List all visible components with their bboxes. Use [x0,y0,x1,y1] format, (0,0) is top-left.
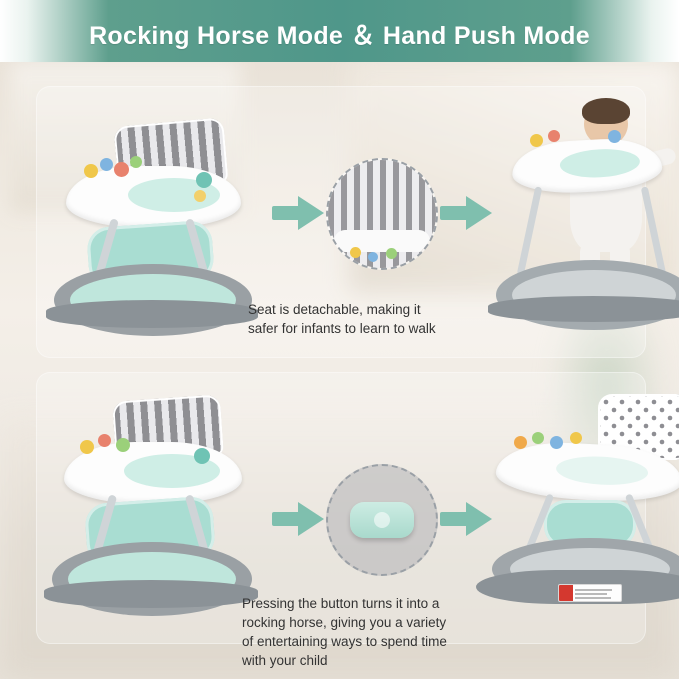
caption-bottom: Pressing the button turns it into a rock… [242,594,498,670]
baby-hair [582,98,630,124]
warning-sticker [558,584,622,602]
header-banner: Rocking Horse Mode ＆ Hand Push Mode [0,0,679,68]
mode-button-closeup [326,464,438,576]
fabric-edge [334,230,430,252]
toy2-blue-icon [608,130,621,143]
tray-inner-4 [555,454,648,487]
closeup-toy-yellow-icon [350,247,361,258]
caption-top: Seat is detachable, making it safer for … [248,300,488,338]
toy3-teal-icon [194,448,210,464]
photo-stage: Seat is detachable, making it safer for … [0,62,679,679]
mode-button[interactable] [350,502,414,538]
walker-hand-push-mode [488,100,679,350]
toy-green-icon [130,156,142,168]
frame-bar-2-left [517,186,543,275]
walker-walking-mode [44,392,259,622]
toy-blue-icon [100,158,113,171]
toy-teal-icon [196,172,212,188]
closeup-toy-blue-icon [368,252,378,262]
toy4-yellow-icon [570,432,582,444]
toy-yellow-icon [84,164,98,178]
rocker-rail [46,300,258,328]
arrow-right-3 [272,502,324,536]
panel-top: Seat is detachable, making it safer for … [36,86,646,358]
tray-inner-2 [559,147,640,179]
rocker-rail-2 [488,296,679,322]
toy4-orange-icon [514,436,527,449]
seat-fabric-closeup [326,158,438,270]
toy2-orange-icon [548,130,560,142]
toy4-green-icon [532,432,544,444]
walker-rocking-horse-mode [474,388,679,638]
panel-bottom: Pressing the button turns it into a rock… [36,372,646,644]
toy3-yellow-icon [80,440,94,454]
toy2-yellow-icon [530,134,543,147]
toy3-orange-icon [98,434,111,447]
toy3-green-icon [116,438,130,452]
closeup-toy-green-icon [386,248,397,259]
arrow-right-2 [440,196,492,230]
walker-rocking-mode [44,114,259,339]
rocker-rail-3 [44,580,258,608]
frame-bar-2-right [641,186,667,275]
toy-bell-icon [194,190,206,202]
product-infographic: Rocking Horse Mode ＆ Hand Push Mode [0,0,679,679]
arrow-right-1 [272,196,324,230]
page-title: Rocking Horse Mode ＆ Hand Push Mode [89,16,590,52]
toy4-blue-icon [550,436,563,449]
toy-orange-icon [114,162,129,177]
